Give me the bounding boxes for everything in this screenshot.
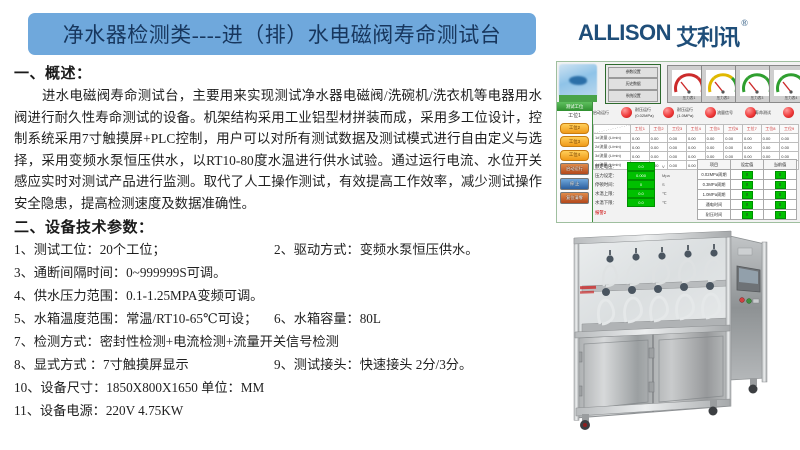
hmi-cycle-setvalue[interactable]: 0: [731, 170, 764, 180]
hmi-table-cell: 0.00: [705, 143, 724, 152]
hmi-table-header: 工位6: [724, 125, 743, 134]
hmi-parameter-unit: ℃: [662, 191, 667, 196]
hmi-cycle-item: 0.3MPa周期: [698, 180, 731, 190]
hmi-cycle-nowvalue: 0: [764, 200, 797, 210]
spec-row: 11、设备电源：220V 4.75KW: [14, 399, 556, 422]
gauge-label: 压力表4: [770, 96, 800, 101]
hmi-sidebar-action-button[interactable]: 启动运行: [560, 163, 589, 175]
hmi-sidebar: 测试工位工位1工位2工位3工位4启动运行停 止复位清零: [557, 102, 593, 222]
hmi-status-lamp-group: 耐压运行 (0.02MPa): [635, 107, 674, 118]
hmi-table-cell: 0.00: [668, 134, 687, 143]
hmi-table-row-label: 1#流量 (L/min): [594, 134, 631, 143]
overview-paragraph: 进水电磁阀寿命测试台，主要用来实现测试净水器电磁阀/洗碗机/洗衣机等电器用水阀进…: [14, 85, 542, 214]
hmi-cycle-item: 通电时间: [698, 200, 731, 210]
hmi-parameter-row: 额定电压：0.0V: [595, 162, 695, 171]
logo-text-en: ALLISON: [578, 20, 671, 46]
hmi-parameter-label: 水温上限：: [595, 191, 627, 197]
hmi-cycle-nowvalue: 0: [764, 210, 797, 220]
hmi-cycle-row: 耐压时间00: [698, 210, 797, 220]
page-title-banner: 净水器检测类----进（排）水电磁阀寿命测试台: [28, 13, 536, 55]
spec-list: 1、测试工位：20个工位；2、驱动方式：变频水泵恒压供水。3、通断间隔时间：0~…: [0, 238, 556, 422]
hmi-cycle-item: 耐压时间: [698, 210, 731, 220]
hmi-parameter-unit: Mpa: [662, 173, 670, 178]
hmi-cycle-header: 项目: [698, 160, 731, 170]
hmi-parameter-unit: S: [662, 182, 665, 187]
spec-row: 10、设备尺寸：1850X800X1650 单位：MM: [14, 376, 556, 399]
hmi-sidebar-station-button[interactable]: 工位4: [560, 150, 589, 161]
section-heading-specs: 二、设备技术参数：: [14, 216, 556, 237]
spec-row: 8、显式方式 ：7寸触摸屏显示9、测试接头：快速接头 2分/3分。: [14, 353, 556, 376]
spec-row: 3、通断间隔时间：0~999999S可调。: [14, 261, 556, 284]
machine-photo-illustration: [560, 228, 798, 446]
section-heading-overview: 一、概述：: [14, 62, 556, 83]
hmi-table-cell: 0.00: [631, 143, 650, 152]
spec-item-left: 1、测试工位：20个工位；: [14, 238, 274, 261]
hmi-cycle-row: 通电时间00: [698, 200, 797, 210]
hmi-cycle-nowvalue: 0: [764, 180, 797, 190]
hmi-status-lamp-group: 启动运行: [593, 107, 632, 118]
page-title: 净水器检测类----进（排）水电磁阀寿命测试台: [63, 19, 501, 49]
hmi-status-lamp-label: 流量信号: [717, 110, 743, 116]
hmi-table-header: 工位2: [649, 125, 668, 134]
registered-trademark-icon: ®: [741, 18, 748, 28]
hmi-table-cell: 0.00: [780, 134, 799, 143]
hmi-parameter-row: 压力设定：0.000Mpa: [595, 171, 695, 180]
hmi-cycle-table: 项目设定值当前值0.02MPa周期000.3MPa周期001.0MPa周期00通…: [697, 159, 797, 220]
hmi-table-header: 工位8: [761, 125, 780, 134]
hmi-menu-button[interactable]: 历史数据: [608, 78, 658, 90]
hmi-parameter-unit: V: [662, 164, 665, 169]
spec-item-left: 4、供水压力范围：0.1-1.25MPA变频可调。: [14, 284, 274, 307]
hmi-cycle-setvalue[interactable]: 0: [731, 190, 764, 200]
document-body: 一、概述： 进水电磁阀寿命测试台，主要用来实现测试净水器电磁阀/洗碗机/洗衣机等…: [0, 62, 556, 422]
spec-row: 4、供水压力范围：0.1-1.25MPA变频可调。: [14, 284, 556, 307]
hmi-parameter-label: 停顿时间：: [595, 182, 627, 188]
spec-item-left: 7、检测方式：密封性检测+电流检测+流量开关信号检测: [14, 330, 274, 353]
hmi-table-cell: 0.00: [780, 143, 799, 152]
spec-item-left: 10、设备尺寸：1850X800X1650 单位：MM: [14, 376, 274, 399]
hmi-status-lamp-label: 耐压运行 (0.02MPa): [635, 107, 661, 118]
hmi-table-cell: 0.00: [705, 134, 724, 143]
hmi-status-lamp-group: 流量信号: [717, 107, 756, 118]
hmi-cycle-header: 当前值: [764, 160, 797, 170]
company-logo: ALLISON 艾利讯 ®: [578, 20, 748, 52]
hmi-parameter-row: 停顿时间：0S: [595, 180, 695, 189]
hmi-table-cell: 0.00: [724, 134, 743, 143]
hmi-parameter-unit: ℃: [662, 200, 667, 205]
spec-item-right: 6、水箱容量：80L: [274, 307, 381, 330]
hmi-status-lamp-group: 耐压运行 (1.0MPa): [677, 107, 716, 118]
hmi-table-cell: 0.00: [668, 143, 687, 152]
hmi-table-cell: 0.00: [649, 143, 668, 152]
hmi-table-header: 工位4: [686, 125, 705, 134]
hmi-status-lamp-indicator: [705, 107, 716, 118]
hmi-parameter-value[interactable]: 0.0: [627, 198, 655, 207]
hmi-pressure-gauge: 压力表4: [769, 65, 800, 103]
hmi-cycle-setvalue[interactable]: 0: [731, 200, 764, 210]
gauge-dial-icon: [774, 70, 800, 96]
hmi-table-cell: 0.00: [631, 152, 650, 161]
hmi-parameter-row: 水温下限：0.0℃: [595, 198, 695, 207]
hmi-sidebar-station-button[interactable]: 工位3: [560, 136, 589, 147]
hmi-table-cell: 0.00: [668, 152, 687, 161]
hmi-table-cell: 0.00: [631, 134, 650, 143]
spec-item-left: 8、显式方式 ：7寸触摸屏显示: [14, 353, 274, 376]
hmi-brand-logo-icon: [559, 64, 597, 98]
hmi-table-cell: 0.00: [742, 134, 761, 143]
logo-text-cn: 艾利讯: [676, 20, 739, 52]
hmi-parameter-label: 压力设定：: [595, 173, 627, 179]
hmi-status-lamp-indicator: [783, 107, 794, 118]
spec-item-right: 2、驱动方式：变频水泵恒压供水。: [274, 238, 478, 261]
hmi-sidebar-action-button[interactable]: 停 止: [560, 178, 589, 190]
hmi-sidebar-current-station: 工位1: [557, 111, 592, 120]
hmi-status-lamp-group: 寿命测试: [755, 107, 794, 118]
hmi-menu-button[interactable]: 参数设置: [608, 67, 658, 79]
hmi-top-bar: 参数设置历史数据系统设置 压力表1压力表2压力表3压力表4: [557, 62, 800, 109]
spec-item-left: 11、设备电源：220V 4.75KW: [14, 399, 274, 422]
hmi-parameter-label: 额定电压：: [595, 164, 627, 170]
hmi-sidebar-header: 测试工位: [557, 102, 592, 111]
hmi-cycle-row: 1.0MPa周期00: [698, 190, 797, 200]
hmi-table-header: 工位7: [742, 125, 761, 134]
hmi-table-row-label: 2#流量 (L/min): [594, 143, 631, 152]
hmi-table-cell: 0.00: [761, 134, 780, 143]
hmi-cycle-setvalue[interactable]: 0: [731, 180, 764, 190]
hmi-table-row: 2#流量 (L/min)0.000.000.000.000.000.000.00…: [594, 143, 799, 152]
hmi-parameter-value[interactable]: 0.0: [627, 162, 655, 171]
hmi-cycle-setvalue[interactable]: 0: [731, 210, 764, 220]
hmi-cycle-header: 设定值: [731, 160, 764, 170]
hmi-cycle-nowvalue: 0: [764, 170, 797, 180]
slide-page: 净水器检测类----进（排）水电磁阀寿命测试台 ALLISON 艾利讯 ® 一、…: [0, 0, 800, 450]
hmi-table-cell: 0.00: [724, 143, 743, 152]
spec-item-left: 5、水箱温度范围：常温/RT10-65℃可设；: [14, 307, 274, 330]
hmi-menu-box: 参数设置历史数据系统设置: [605, 64, 661, 104]
hmi-status-lamp-indicator: [663, 107, 674, 118]
hmi-cycle-nowvalue: 0: [764, 190, 797, 200]
hmi-status-lamp-label: 启动运行: [593, 110, 619, 116]
machine-photo: [560, 228, 798, 446]
hmi-cycle-item: 1.0MPa周期: [698, 190, 731, 200]
hmi-table-header: 工位9: [780, 125, 799, 134]
hmi-cycle-row: 0.02MPa周期00: [698, 170, 797, 180]
hmi-parameter-panel: 额定电压：0.0V压力设定：0.000Mpa停顿时间：0S水温上限：0.0℃水温…: [595, 162, 695, 216]
hmi-table-header: 工位1: [631, 125, 650, 134]
hmi-parameter-row: 水温上限：0.0℃: [595, 189, 695, 198]
spec-item-right: 9、测试接头：快速接头 2分/3分。: [274, 353, 472, 376]
hmi-lamp-row: 启动运行耐压运行 (0.02MPa)耐压运行 (1.0MPa)流量信号寿命测试: [557, 107, 800, 124]
spec-row: 5、水箱温度范围：常温/RT10-65℃可设；6、水箱容量：80L: [14, 307, 556, 330]
spec-row: 1、测试工位：20个工位；2、驱动方式：变频水泵恒压供水。: [14, 238, 556, 261]
spec-item-left: 3、通断间隔时间：0~999999S可调。: [14, 261, 274, 284]
hmi-parameter-value[interactable]: 0: [627, 180, 655, 189]
hmi-table-header: 工位5: [705, 125, 724, 134]
hmi-table-cell: 0.00: [761, 143, 780, 152]
hmi-parameter-value[interactable]: 0.000: [627, 171, 655, 180]
hmi-status-lamp-label: 耐压运行 (1.0MPa): [677, 107, 703, 118]
hmi-screenshot: 参数设置历史数据系统设置 压力表1压力表2压力表3压力表4 启动运行耐压运行 (…: [556, 61, 800, 223]
hmi-status-lamp-indicator: [621, 107, 632, 118]
hmi-table-cell: 0.00: [649, 152, 668, 161]
hmi-table-cell: 0.00: [742, 143, 761, 152]
hmi-table-row: 1#流量 (L/min)0.000.000.000.000.000.000.00…: [594, 134, 799, 143]
hmi-sidebar-station-button[interactable]: 工位2: [560, 123, 589, 134]
hmi-cycle-item: 0.02MPa周期: [698, 170, 731, 180]
hmi-brand-logo-base: [559, 95, 597, 102]
hmi-table-header: 工位3: [668, 125, 687, 134]
spec-row: 7、检测方式：密封性检测+电流检测+流量开关信号检测: [14, 330, 556, 353]
hmi-alarm-label: 报警2: [595, 210, 695, 216]
hmi-status-lamp-label: 寿命测试: [755, 110, 781, 116]
hmi-table-row-label: 3#流量 (L/min): [594, 152, 631, 161]
hmi-table-cell: 0.00: [686, 143, 705, 152]
hmi-table-cell: 0.00: [686, 134, 705, 143]
hmi-cycle-row: 0.3MPa周期00: [698, 180, 797, 190]
hmi-table-cell: 0.00: [649, 134, 668, 143]
hmi-menu-button[interactable]: 系统设置: [608, 90, 658, 102]
hmi-parameter-value[interactable]: 0.0: [627, 189, 655, 198]
hmi-parameter-label: 水温下限：: [595, 200, 627, 206]
hmi-sidebar-action-button[interactable]: 复位清零: [560, 192, 589, 204]
